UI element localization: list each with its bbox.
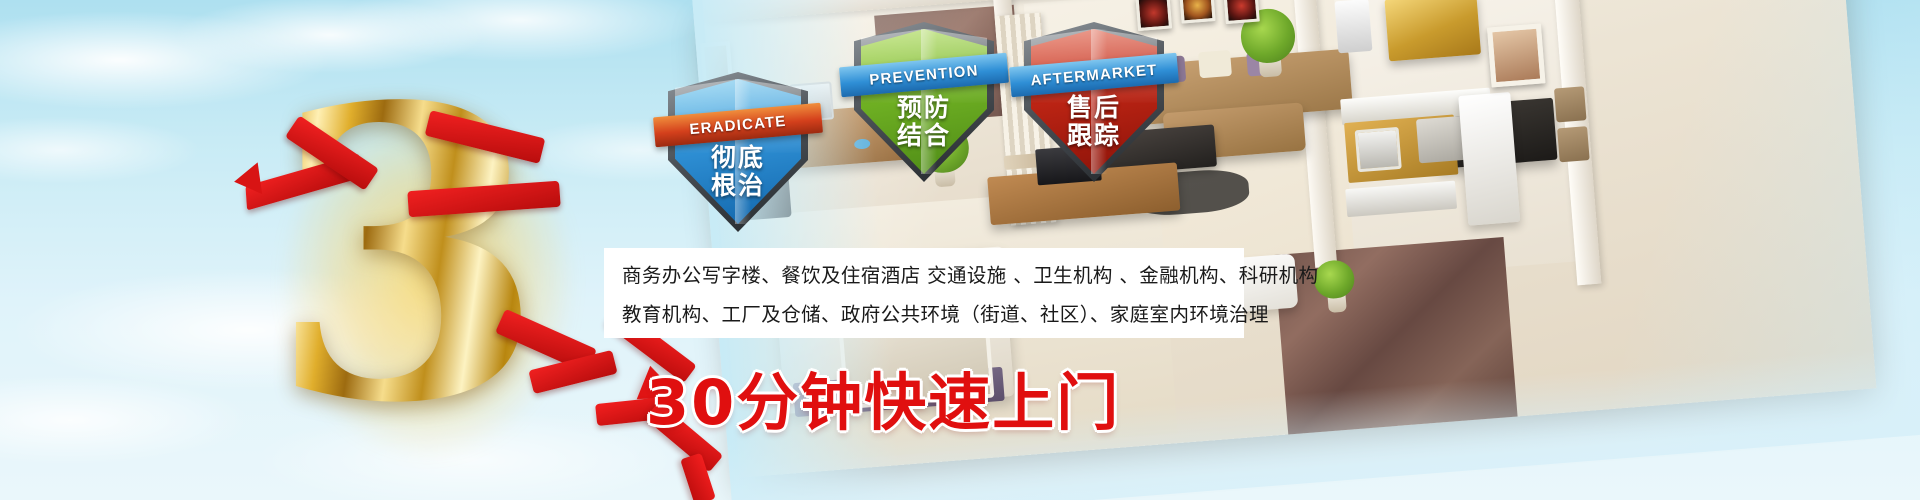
hero-number: 3 (268, 56, 536, 456)
shield-banner-label: PREVENTION (869, 62, 980, 88)
shield-cn-line-2: 根治 (668, 172, 808, 200)
shield-chinese-text: 售后 跟踪 (1024, 94, 1164, 150)
wall-art (1223, 0, 1260, 24)
promo-banner: 3 ERADICATE 彻底 根治 PREVEN (0, 0, 1920, 500)
shield-badge-eradicate: ERADICATE 彻底 根治 (668, 72, 808, 232)
shield-cn-line-2: 结合 (854, 122, 994, 150)
shield-badge-aftermarket: AFTERMARKET 售后 跟踪 (1024, 22, 1164, 182)
dining-chair (1554, 86, 1587, 122)
cushion (1198, 50, 1232, 78)
refrigerator (1458, 92, 1520, 226)
shield-banner-label: AFTERMARKET (1030, 61, 1158, 89)
shield-cn-line-1: 售后 (1024, 94, 1164, 122)
shield-chinese-text: 彻底 根治 (668, 144, 808, 200)
shield-cn-line-1: 预防 (854, 94, 994, 122)
oven (1355, 127, 1402, 172)
dining-chair (1557, 126, 1590, 162)
golden-three-graphic: 3 (268, 96, 598, 466)
service-scope-line-2: 教育机构、工厂及仓储、政府公共环境（街道、社区）、家庭室内环境治理 (622, 298, 1226, 327)
range-hood (1334, 0, 1372, 53)
shield-chinese-text: 预防 结合 (854, 94, 994, 150)
shield-badge-prevention: PREVENTION 预防 结合 (854, 22, 994, 182)
red-ribbon-tip-icon (232, 162, 262, 197)
wall-art (1179, 0, 1216, 24)
service-scope-panel: 商务办公写字楼、餐饮及住宿酒店 交通设施 、卫生机构 、金融机构、科研机构 教育… (604, 248, 1244, 338)
shield-cn-line-2: 跟踪 (1024, 122, 1164, 150)
kitchen-wall-cabinet (1384, 0, 1481, 61)
service-scope-line-1: 商务办公写字楼、餐饮及住宿酒店 交通设施 、卫生机构 、金融机构、科研机构 (622, 259, 1226, 288)
framed-picture (1487, 23, 1546, 87)
headline-text: 30分钟快速上门 (646, 352, 1120, 442)
shield-banner-label: ERADICATE (689, 112, 787, 137)
shield-cn-line-1: 彻底 (668, 144, 808, 172)
